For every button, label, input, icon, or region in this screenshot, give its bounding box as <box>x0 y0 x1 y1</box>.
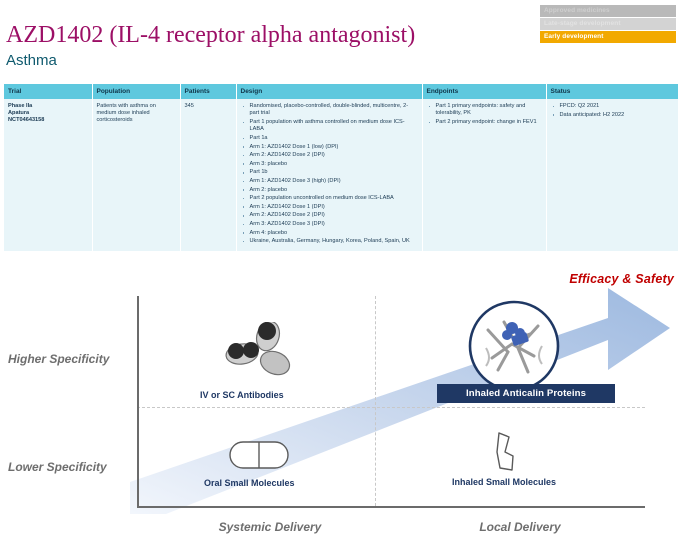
axis-label-local-delivery: Local Delivery <box>410 520 630 534</box>
cell-trial: Phase IIa Apatura NCT04643158 <box>4 99 92 251</box>
cell-design: Randomised, placebo-controlled, double-b… <box>236 99 422 251</box>
list-item: Arm 1: AZD1402 Dose 3 (high) (DPI) <box>241 178 417 185</box>
legend-item-early-development[interactable]: Early development <box>540 31 676 43</box>
page-title: AZD1402 (IL-4 receptor alpha antagonist) <box>6 22 415 48</box>
list-item: Part 1a <box>241 135 417 142</box>
vertical-gridline <box>375 296 376 506</box>
list-item: Ukraine, Australia, Germany, Hungary, Ko… <box>241 238 417 245</box>
list-item: Arm 3: AZD1402 Dose 3 (DPI) <box>241 221 417 228</box>
clinical-trial-table: Trial Population Patients Design Endpoin… <box>4 84 679 251</box>
legend-item-approved-medicines[interactable]: Approved medicines <box>540 5 676 17</box>
list-item: Arm 2: AZD1402 Dose 2 (DPI) <box>241 212 417 219</box>
table-header-row: Trial Population Patients Design Endpoin… <box>4 84 678 99</box>
column-header-trial: Trial <box>4 84 92 99</box>
column-header-population: Population <box>92 84 180 99</box>
capsule-icon <box>228 438 290 472</box>
cell-status: FPCD: Q2 2021 Data anticipated: H2 2022 <box>546 99 678 251</box>
trial-nct-number: NCT04643158 <box>8 117 87 124</box>
axis-label-systemic-delivery: Systemic Delivery <box>160 520 380 534</box>
page-subtitle: Asthma <box>6 52 57 70</box>
list-item: Arm 3: placebo <box>241 161 417 168</box>
horizontal-gridline <box>137 407 645 408</box>
list-item: FPCD: Q2 2021 <box>551 103 673 110</box>
legend-item-late-stage-development[interactable]: Late-stage development <box>540 18 676 30</box>
status-bullet-list: FPCD: Q2 2021 Data anticipated: H2 2022 <box>551 103 673 119</box>
quadrant-label-inhaled-small-molecules: Inhaled Small Molecules <box>452 477 556 487</box>
list-item: Data anticipated: H2 2022 <box>551 112 673 119</box>
x-axis-line <box>137 506 645 508</box>
positioning-quadrant-diagram: Efficacy & Safety Higher Specificity Low… <box>0 262 682 556</box>
trial-phase: Phase IIa <box>8 103 87 110</box>
list-item: Arm 2: AZD1402 Dose 2 (DPI) <box>241 152 417 159</box>
list-item: Arm 2: placebo <box>241 187 417 194</box>
endpoints-bullet-list: Part 1 primary endpoints: safety and tol… <box>427 103 541 126</box>
list-item: Arm 1: AZD1402 Dose 1 (low) (DPI) <box>241 144 417 151</box>
list-item: Part 2 population uncontrolled on medium… <box>241 195 417 202</box>
list-item: Arm 4: placebo <box>241 230 417 237</box>
trial-name: Apatura <box>8 110 87 117</box>
column-header-status: Status <box>546 84 678 99</box>
column-header-design: Design <box>236 84 422 99</box>
development-stage-legend: Approved medicines Late-stage developmen… <box>540 5 676 44</box>
list-item: Randomised, placebo-controlled, double-b… <box>241 103 417 118</box>
table-row: Phase IIa Apatura NCT04643158 Patients w… <box>4 99 678 251</box>
quadrant-label-oral-small-molecules: Oral Small Molecules <box>204 478 295 488</box>
cell-patients: 345 <box>180 99 236 251</box>
list-item: Part 2 primary endpoint: change in FEV1 <box>427 119 541 126</box>
y-axis-line <box>137 296 139 506</box>
quadrant-label-inhaled-anticalin-proteins[interactable]: Inhaled Anticalin Proteins <box>437 384 615 403</box>
list-item: Part 1b <box>241 169 417 176</box>
axis-label-higher-specificity: Higher Specificity <box>8 352 134 366</box>
cell-population: Patients with asthma on medium dose inha… <box>92 99 180 251</box>
quadrant-label-iv-or-sc-antibodies: IV or SC Antibodies <box>200 390 284 400</box>
axis-label-lower-specificity: Lower Specificity <box>8 460 134 474</box>
protein-structure-icon <box>468 300 560 392</box>
design-bullet-list: Randomised, placebo-controlled, double-b… <box>241 103 417 246</box>
inhaler-icon <box>485 430 531 476</box>
antibody-icon <box>222 322 298 384</box>
cell-endpoints: Part 1 primary endpoints: safety and tol… <box>422 99 546 251</box>
list-item: Part 1 population with asthma controlled… <box>241 119 417 134</box>
column-header-patients: Patients <box>180 84 236 99</box>
list-item: Part 1 primary endpoints: safety and tol… <box>427 103 541 118</box>
list-item: Arm 1: AZD1402 Dose 1 (DPI) <box>241 204 417 211</box>
column-header-endpoints: Endpoints <box>422 84 546 99</box>
slide-page: Approved medicines Late-stage developmen… <box>0 0 682 556</box>
